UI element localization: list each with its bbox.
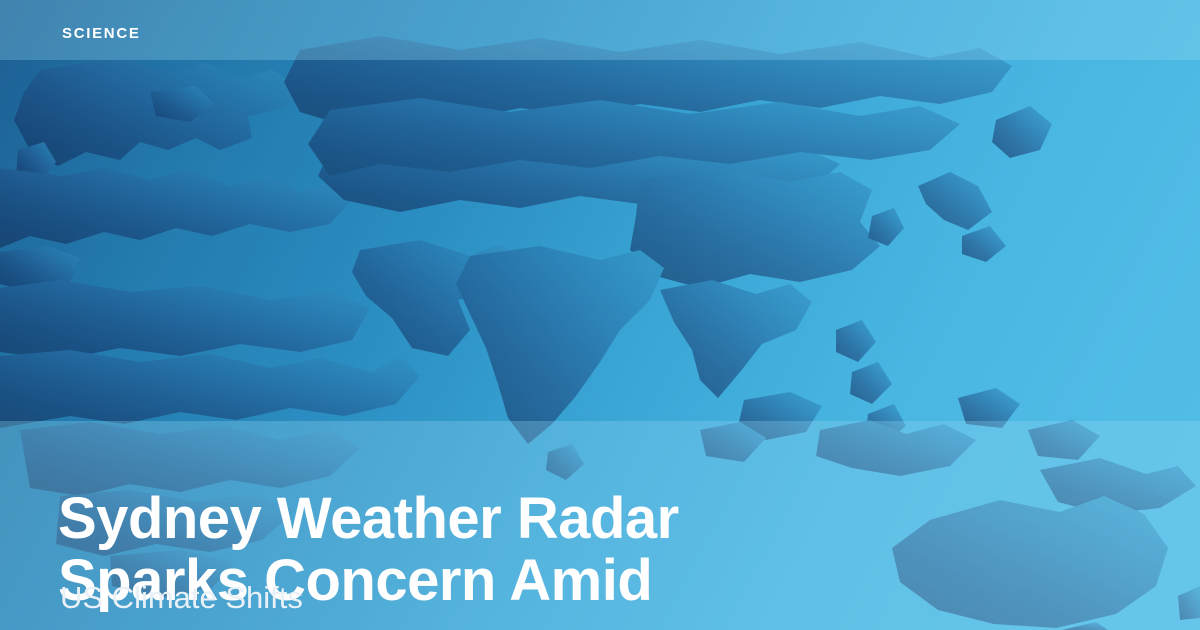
subtitle: US Climate Shifts [60, 580, 900, 616]
top-overlay-band [0, 0, 1200, 60]
category-kicker: SCIENCE [62, 24, 141, 44]
social-share-card: SCIENCE Sydney Weather Radar Sparks Conc… [0, 0, 1200, 630]
